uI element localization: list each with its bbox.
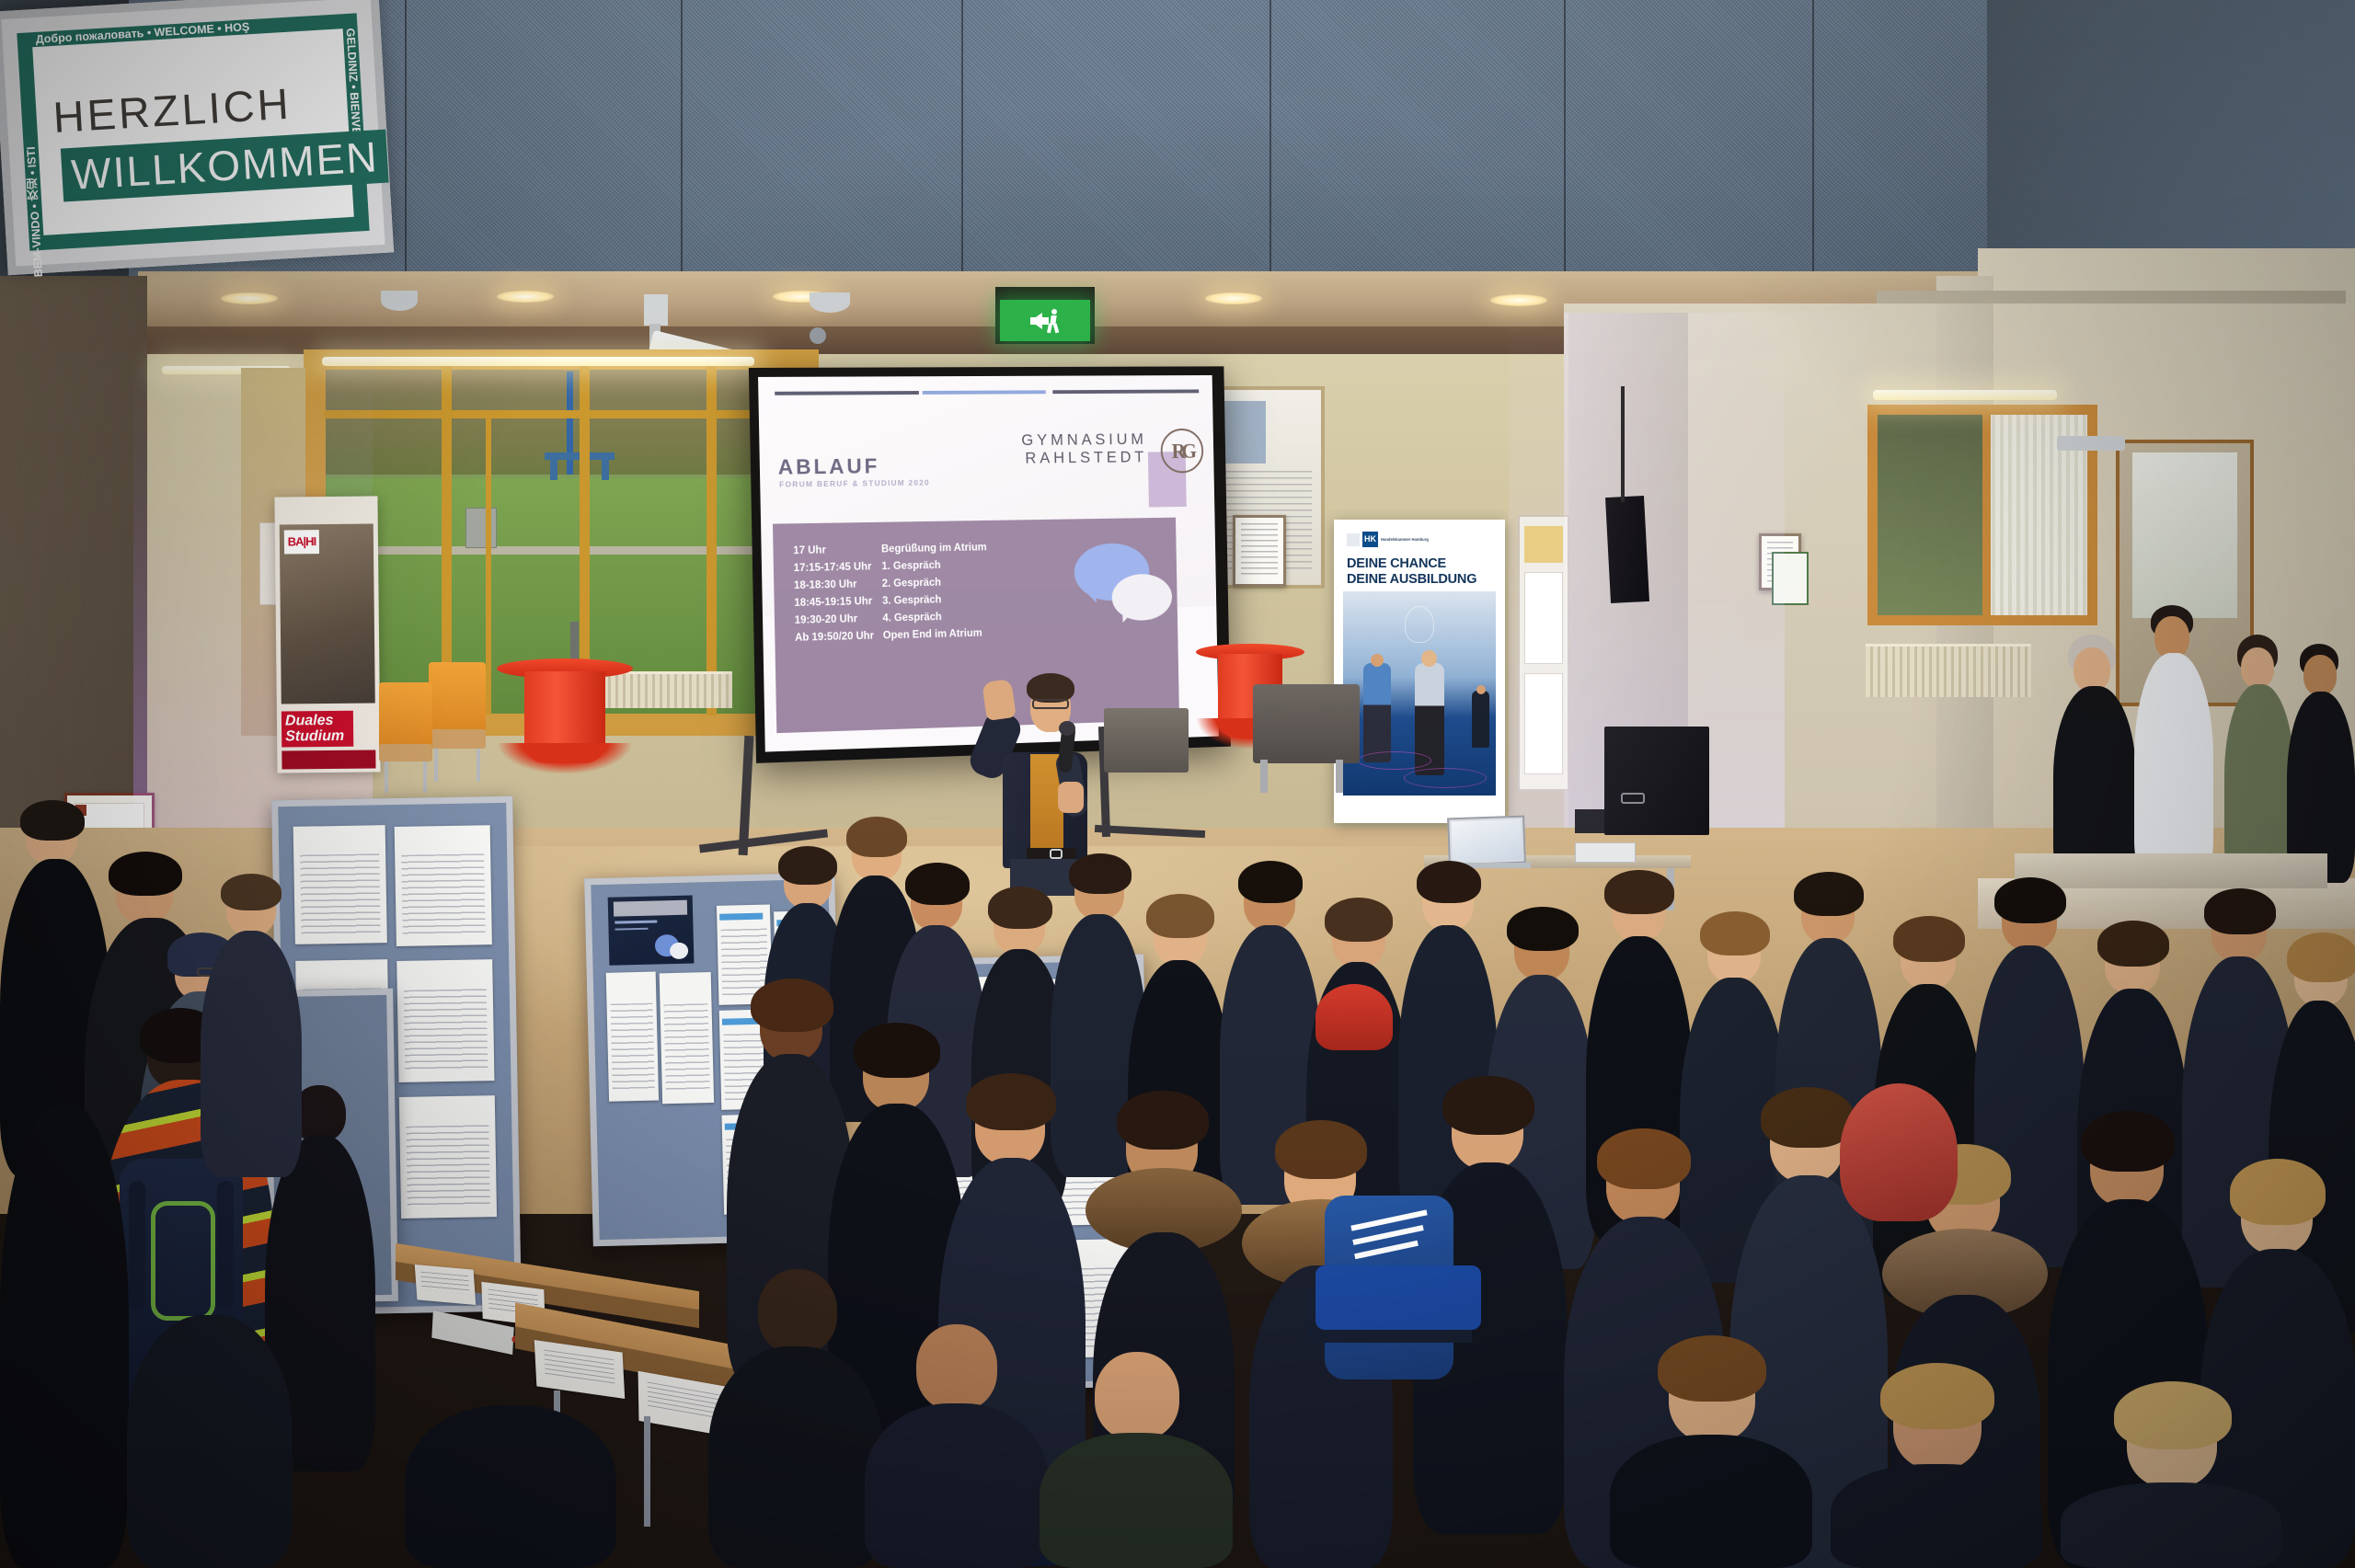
lightbulb-icon	[1405, 606, 1434, 643]
school-name-line1: GYMNASIUM	[1021, 430, 1147, 449]
welcome-banner: Добро пожаловать • WELCOME • HOŞ BEM-VIN…	[0, 0, 394, 275]
welcome-langs-left: BEM-VINDO • 欢迎 • ISTI	[17, 47, 46, 278]
laptop	[1447, 816, 1526, 866]
red-beanie-hat	[1315, 984, 1393, 1050]
adult-standing	[2224, 635, 2294, 883]
school-monogram-icon: RG	[1160, 429, 1203, 474]
poster-column-right	[1518, 515, 1569, 791]
table-row: 17:15-17:45 Uhr1. Gespräch	[794, 556, 988, 576]
student-front	[1040, 1352, 1233, 1568]
red-headscarf	[1840, 1083, 1958, 1221]
student-front	[708, 1269, 883, 1568]
ceiling-dome-light	[810, 292, 850, 313]
papers-on-table	[1575, 842, 1636, 863]
fluorescent-strip-right	[1873, 390, 2057, 400]
banner-duales-headline: Duales Studium	[281, 711, 353, 747]
presenter-hand	[982, 679, 1017, 721]
adult-standing	[2134, 605, 2213, 881]
microphone-head-icon	[1059, 721, 1075, 736]
blue-jacket	[1315, 1265, 1481, 1330]
slide-schedule-panel: 17 UhrBegrüßung im Atrium 17:15-17:45 Uh…	[773, 518, 1179, 733]
table-leg	[644, 1416, 650, 1527]
student-front	[405, 1405, 616, 1568]
light-fixture-floor	[1575, 809, 1604, 833]
radiator-right	[1866, 644, 2031, 697]
emergency-exit-sign	[995, 287, 1095, 344]
pa-speaker-wall	[1605, 496, 1649, 603]
ba-hi-logo-icon: BA|HI	[284, 530, 319, 554]
student-front	[1831, 1379, 2042, 1568]
table-row: 18:45-19:15 Uhr3. Gespräch	[794, 591, 988, 612]
chair-leg	[1336, 760, 1343, 793]
presenter-glasses	[1032, 699, 1069, 709]
downlight	[1490, 294, 1547, 306]
student-front	[2061, 1398, 2281, 1568]
hk-logo-icon: HK Handelskammer Hamburg	[1347, 532, 1429, 547]
low-wall-right	[2015, 853, 2327, 888]
stacked-chairs	[1104, 708, 1189, 773]
exit-icon	[1000, 300, 1090, 341]
paper-sheet	[415, 1265, 476, 1305]
banner-duales-studium: BA|HI Duales Studium	[274, 496, 380, 773]
banner-hk24: HK Handelskammer Hamburg DEINE CHANCE DE…	[1334, 520, 1505, 823]
adult-standing	[2287, 644, 2355, 883]
speaker-cable	[1621, 386, 1625, 502]
slide-rule-1	[775, 391, 919, 395]
door-closer	[2057, 436, 2125, 451]
welcome-langs-top: Добро пожаловать • WELCOME • HOŞ	[35, 11, 385, 47]
ceiling-speaker-small	[810, 327, 826, 344]
arrow-left-icon	[1030, 313, 1042, 329]
stacked-chairs	[1253, 684, 1360, 763]
table-row: Ab 19:50/20 UhrOpen End im Atrium	[795, 625, 989, 646]
school-logo-text: GYMNASIUM RAHLSTEDT	[1021, 430, 1147, 466]
school-name-line2: RAHLSTEDT	[1022, 448, 1148, 467]
cocktail-table-left	[497, 658, 633, 787]
adult-standing	[2053, 635, 2136, 883]
downlight	[497, 291, 554, 303]
student-row	[201, 883, 302, 1177]
speech-bubble-white-icon	[1111, 574, 1172, 622]
ceiling-dome-light	[381, 291, 418, 311]
banner-hk-headline: DEINE CHANCE DEINE AUSBILDUNG	[1347, 556, 1476, 588]
banner-duales-tagline	[281, 750, 375, 769]
student-front	[865, 1324, 1049, 1568]
slide-title: ABLAUF	[777, 454, 879, 480]
fluorescent-strip	[322, 357, 754, 366]
table-row: 17 UhrBegrüßung im Atrium	[793, 540, 987, 559]
presenter-hand-mic	[1058, 782, 1084, 813]
chair-orange-2	[379, 682, 432, 793]
wall-notice-green	[1772, 552, 1809, 605]
chair-leg	[1260, 760, 1268, 793]
student-foreground	[0, 1104, 129, 1568]
chair-orange-1	[429, 662, 486, 782]
belt-buckle	[1050, 849, 1063, 859]
schedule-table: 17 UhrBegrüßung im Atrium 17:15-17:45 Uh…	[791, 538, 990, 648]
ceiling-right-panel	[1987, 0, 2355, 248]
student-front	[1610, 1352, 1812, 1568]
subwoofer	[1604, 727, 1709, 835]
downlight	[1205, 292, 1262, 304]
banner-hk-photo	[1343, 591, 1496, 795]
photo-scene: ABLAUF FORUM BERUF & STUDIUM 2020 GYMNAS…	[0, 0, 2355, 1568]
acoustic-ceiling-panels	[129, 0, 1996, 276]
wall-trim-right	[1877, 291, 2346, 303]
downlight	[221, 292, 278, 304]
running-person-icon	[1046, 309, 1060, 333]
wall-picture	[1233, 515, 1286, 587]
slide-rule-2	[923, 390, 1046, 395]
table-row: 18-18:30 Uhr2. Gespräch	[794, 574, 988, 593]
projector-mount	[644, 294, 668, 326]
student-foreground	[127, 1315, 293, 1568]
